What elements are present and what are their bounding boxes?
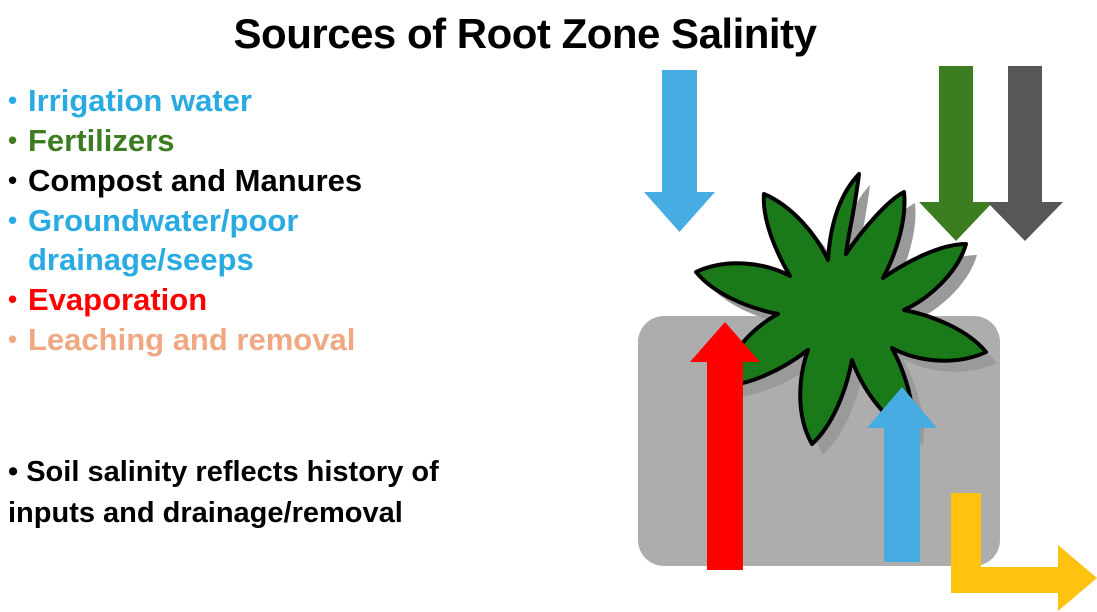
bullet-marker-icon: • xyxy=(8,162,28,198)
list-item: • Compost and Manures xyxy=(8,162,618,200)
fertilizer-arrow xyxy=(919,66,993,241)
list-item: • Groundwater/poor drainage/seeps xyxy=(8,202,618,278)
root-zone-salinity-diagram xyxy=(600,40,1097,612)
bullet-marker-icon: • xyxy=(8,321,28,357)
bullet-marker-icon: • xyxy=(8,82,28,118)
bullet-marker-icon: • xyxy=(8,281,28,317)
list-item: • Evaporation xyxy=(8,281,618,319)
list-item: • Leaching and removal xyxy=(8,321,618,359)
list-item-label: Irrigation water xyxy=(28,82,618,120)
list-item: • Irrigation water xyxy=(8,82,618,120)
compost-manure-arrow xyxy=(987,66,1063,241)
slide-canvas: Sources of Root Zone Salinity • Irrigati… xyxy=(0,0,1097,612)
list-item-label: Groundwater/poor drainage/seeps xyxy=(28,202,618,278)
list-item-label: Compost and Manures xyxy=(28,162,618,200)
irrigation-water-arrow xyxy=(644,70,715,232)
list-item-label: Evaporation xyxy=(28,281,618,319)
bullet-marker-icon: • xyxy=(8,202,28,238)
closing-statement: • Soil salinity reflects history of inpu… xyxy=(8,452,608,534)
bullet-list: • Irrigation water • Fertilizers • Compo… xyxy=(8,82,618,361)
list-item-label: Fertilizers xyxy=(28,122,618,160)
bullet-marker-icon: • xyxy=(8,122,28,158)
list-item: • Fertilizers xyxy=(8,122,618,160)
leaching-removal-arrow xyxy=(951,493,1097,611)
list-item-label: Leaching and removal xyxy=(28,321,618,359)
